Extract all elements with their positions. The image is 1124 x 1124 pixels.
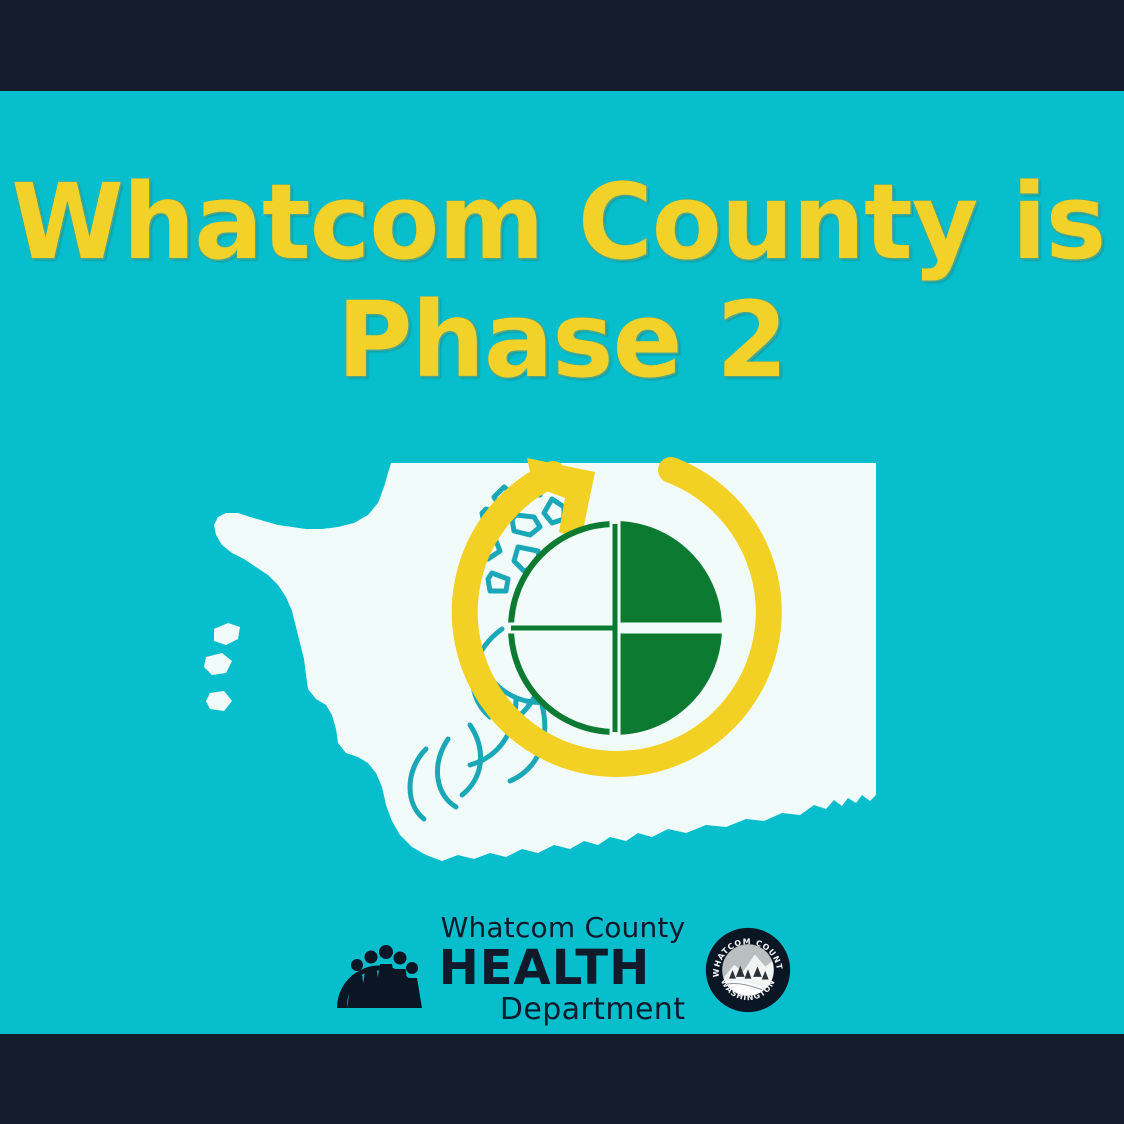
pie-slice-filled-1 bbox=[615, 524, 719, 628]
letterbox-bottom bbox=[0, 1034, 1124, 1124]
department-wordmark: Whatcom County HEALTH Department bbox=[439, 914, 686, 1025]
wordmark-line-health: HEALTH bbox=[439, 944, 686, 992]
page-title: Whatcom County is in Phase 2 bbox=[0, 163, 1124, 399]
letterbox-top bbox=[0, 0, 1124, 91]
poster-root: Whatcom County is in Phase 2 bbox=[0, 0, 1124, 1124]
graphic-stage bbox=[0, 421, 1124, 891]
whatcom-county-seal-icon: WHATCOM COUNTY WASHINGTON bbox=[705, 927, 791, 1013]
pie-slice-filled-2 bbox=[615, 628, 719, 732]
whatcom-county-health-department-logo: Whatcom County HEALTH Department bbox=[0, 917, 1124, 1022]
headline-line-2: Phase 2 bbox=[6, 281, 1119, 399]
poster-canvas: Whatcom County is in Phase 2 bbox=[0, 91, 1124, 1034]
headline-line-1: Whatcom County is in bbox=[11, 163, 1113, 281]
phase-progress-dial bbox=[435, 446, 795, 806]
people-group-icon bbox=[333, 928, 425, 1012]
wordmark-line-department: Department bbox=[439, 995, 686, 1025]
wordmark-line-top: Whatcom County bbox=[441, 914, 686, 942]
